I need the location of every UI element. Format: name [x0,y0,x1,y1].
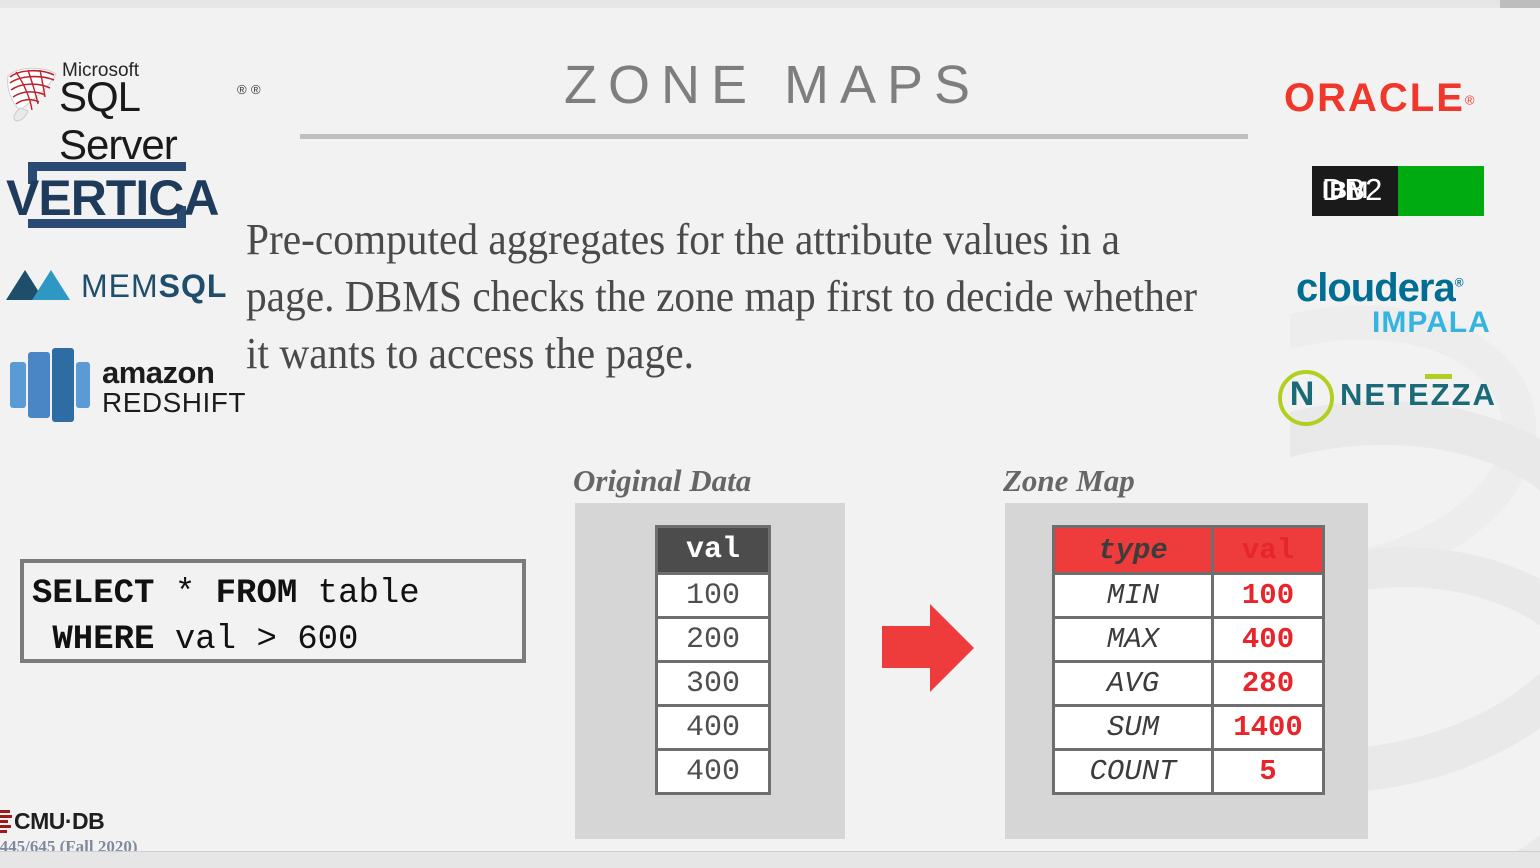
table-row: 100 [657,574,770,618]
ibm-db2-logo: IBM DB2 [1312,166,1484,216]
memsql-wordmark: MEMSQL [81,268,227,305]
original-data-cell: 400 [657,750,770,794]
page-title: ZONE MAPS [300,54,1245,116]
memsql-logo: MEMSQL [6,266,206,306]
sql-server-mark-icon [4,64,60,122]
window-bottom-strip [0,851,1540,868]
zone-map-type-cell: AVG [1054,662,1213,706]
table-row: 200 [657,618,770,662]
zone-map-value-cell: 100 [1213,574,1324,618]
table-row: AVG 280 [1054,662,1324,706]
zone-map-table: type val MIN 100 MAX 400 AVG 280 SUM 140… [1052,525,1325,795]
zone-map-type-cell: MAX [1054,618,1213,662]
presentation-slide: ZONE MAPS Pre-computed aggregates for th… [0,8,1540,851]
oracle-logo: ORACLE® [1284,76,1514,118]
zone-map-value-cell: 1400 [1213,706,1324,750]
memsql-sql-label: SQL [159,268,228,304]
red-right-arrow-icon [882,604,974,692]
redshift-product-label: REDSHIFT [102,387,246,419]
sql-table-name: table [297,575,419,613]
zone-map-label: Zone Map [1003,463,1135,499]
title-divider [300,134,1248,139]
netezza-wordmark: NETEZZA [1340,377,1497,413]
zone-map-value-cell: 280 [1213,662,1324,706]
arrow-shaft [882,626,934,668]
zone-map-value-cell: 400 [1213,618,1324,662]
zone-map-type-cell: SUM [1054,706,1213,750]
cloudera-registered: ® [1455,276,1463,290]
db2-wordmark: DB2 [1322,172,1382,208]
cloudera-label: cloudera [1296,266,1455,310]
slide-body-text: Pre-computed aggregates for the attribut… [246,211,1205,382]
redshift-bar-3-icon [52,348,74,422]
course-label: -445/645 (Fall 2020) [0,837,138,851]
zone-map-type-cell: MIN [1054,574,1213,618]
sql-star: * [154,575,215,613]
arrow-head [930,604,974,692]
sql-query-box: SELECT * FROM table WHERE val > 600 [20,559,526,663]
db2-box [1398,166,1484,216]
redshift-amazon-label: amazon [102,355,214,391]
redshift-bar-4-icon [76,362,90,408]
memsql-mem-label: MEM [81,268,159,304]
table-row: 300 [657,662,770,706]
sql-keyword-from: FROM [216,575,298,613]
cmu-db-logo: CMU·DB [0,808,150,836]
table-row: MIN 100 [1054,574,1324,618]
zone-map-type-cell: COUNT [1054,750,1213,794]
original-data-label: Original Data [573,463,751,499]
table-row: 400 [657,706,770,750]
zone-map-header-val: val [1213,527,1324,574]
redshift-bar-1-icon [10,362,26,408]
table-header-row: type val [1054,527,1324,574]
original-data-cell: 400 [657,706,770,750]
sql-server-logo: Microsoft ® SQL Server ® [4,60,254,122]
original-data-cell: 200 [657,618,770,662]
sql-predicate: val > 600 [154,621,358,659]
sql-keyword-select: SELECT [32,575,154,613]
netezza-overbar-icon [1425,374,1452,379]
table-header-row: val [657,527,770,574]
cloudera-impala-logo: cloudera® IMPALA [1296,266,1506,338]
oracle-wordmark: ORACLE [1284,76,1465,120]
impala-wordmark: IMPALA [1372,306,1491,340]
cloudera-wordmark: cloudera® [1296,266,1463,311]
zone-map-value-cell: 5 [1213,750,1324,794]
original-data-table: val 100 200 300 400 400 [655,525,771,795]
sql-server-product-label: SQL Server [59,73,254,169]
zone-map-header-type: type [1054,527,1213,574]
vertica-wordmark: VERTICA [6,169,218,227]
amazon-redshift-logo: amazon REDSHIFT [6,348,216,423]
sql-server-registered: ® [251,82,261,97]
memsql-chevron-right-icon [32,270,70,300]
vertica-logo: VERTICA [6,160,211,230]
table-row: COUNT 5 [1054,750,1324,794]
table-row: SUM 1400 [1054,706,1324,750]
redshift-bar-2-icon [28,352,50,418]
original-data-cell: 100 [657,574,770,618]
cmu-db-wordmark: CMU·DB [14,808,104,835]
oracle-registered: ® [1465,93,1477,108]
table-row: 400 [657,750,770,794]
netezza-n-mark: N [1278,370,1326,418]
sql-keyword-where: WHERE [32,621,154,659]
slide-viewport: ZONE MAPS Pre-computed aggregates for th… [0,0,1540,868]
original-data-header-val: val [657,527,770,574]
netezza-logo: N NETEZZA [1278,370,1518,422]
table-row: MAX 400 [1054,618,1324,662]
cmu-db-stripes-icon [0,810,12,832]
original-data-cell: 300 [657,662,770,706]
